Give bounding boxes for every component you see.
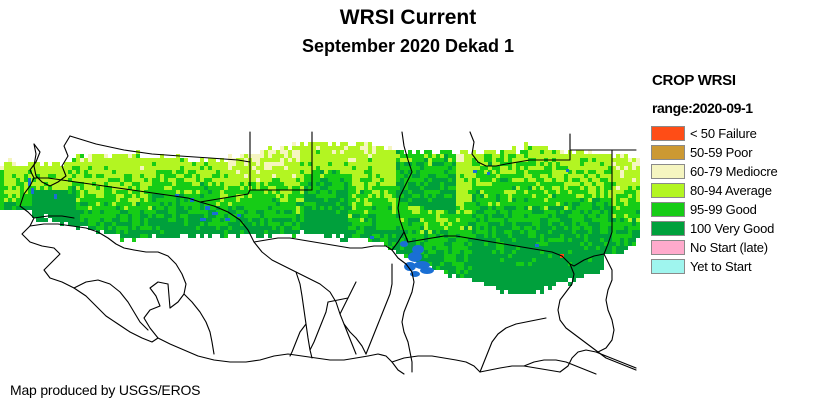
border-path [310, 302, 328, 350]
border-path [408, 236, 516, 246]
border-path [404, 232, 408, 242]
legend-row[interactable]: 80-94 Average [650, 181, 816, 200]
country-borders [20, 132, 636, 374]
border-path [184, 294, 214, 354]
wrsi-map-page: WRSI Current September 2020 Dekad 1 CROP… [0, 0, 816, 403]
legend-row[interactable]: 60-79 Mediocre [650, 162, 816, 181]
legend-row[interactable]: No Start (late) [650, 238, 816, 257]
legend-color-swatch [651, 240, 685, 255]
legend-color-swatch [651, 164, 685, 179]
border-path [366, 264, 392, 354]
legend-panel: CROP WRSI range:2020-09-1 < 50 Failure50… [650, 66, 816, 276]
border-path [20, 144, 168, 342]
border-path [392, 232, 414, 372]
legend-color-swatch [651, 259, 685, 274]
border-path [480, 366, 560, 372]
border-path [392, 356, 480, 372]
legend-row[interactable]: 95-99 Good [650, 200, 816, 219]
legend-color-swatch [651, 126, 685, 141]
border-path [598, 254, 614, 352]
legend-label: 80-94 Average [690, 183, 772, 198]
legend-title: CROP WRSI [652, 72, 816, 89]
border-path [344, 324, 366, 354]
legend-label: 60-79 Mediocre [690, 164, 778, 179]
border-path [296, 272, 312, 358]
legend-color-swatch [651, 221, 685, 236]
border-path [70, 136, 250, 162]
map-canvas[interactable] [0, 66, 645, 376]
border-path [570, 254, 604, 266]
border-path [516, 246, 598, 352]
border-path [604, 150, 612, 254]
legend-label: No Start (late) [690, 240, 768, 255]
border-path [398, 132, 412, 242]
border-path [290, 324, 306, 356]
legend-label: < 50 Failure [690, 126, 757, 141]
legend-item-list: < 50 Failure50-59 Poor60-79 Mediocre80-9… [650, 124, 816, 276]
legend-row[interactable]: Yet to Start [650, 257, 816, 276]
border-path [200, 190, 250, 202]
legend-label: 95-99 Good [690, 202, 757, 217]
legend-color-swatch [651, 183, 685, 198]
border-path [74, 280, 148, 330]
page-subtitle: September 2020 Dekad 1 [0, 36, 816, 57]
legend-color-swatch [651, 202, 685, 217]
page-title: WRSI Current [0, 6, 816, 30]
border-path [158, 338, 368, 362]
legend-row[interactable]: 100 Very Good [650, 219, 816, 238]
border-path [34, 216, 74, 218]
legend-row[interactable]: < 50 Failure [650, 124, 816, 143]
border-path [328, 298, 348, 302]
legend-label: 100 Very Good [690, 221, 774, 236]
border-path [254, 238, 392, 250]
border-path [368, 354, 404, 374]
border-path [480, 318, 546, 372]
legend-label: 50-59 Poor [690, 145, 752, 160]
border-path [200, 202, 296, 272]
country-boundary-layer [0, 66, 645, 376]
border-path [134, 250, 186, 308]
legend-color-swatch [651, 145, 685, 160]
border-path [560, 350, 636, 372]
legend-label: Yet to Start [690, 259, 751, 274]
border-path [470, 132, 542, 166]
legend-row[interactable]: 50-59 Poor [650, 143, 816, 162]
map-credit: Map produced by USGS/EROS [10, 382, 200, 398]
legend-range-label: range:2020-09-1 [652, 100, 816, 116]
border-path [542, 150, 636, 160]
